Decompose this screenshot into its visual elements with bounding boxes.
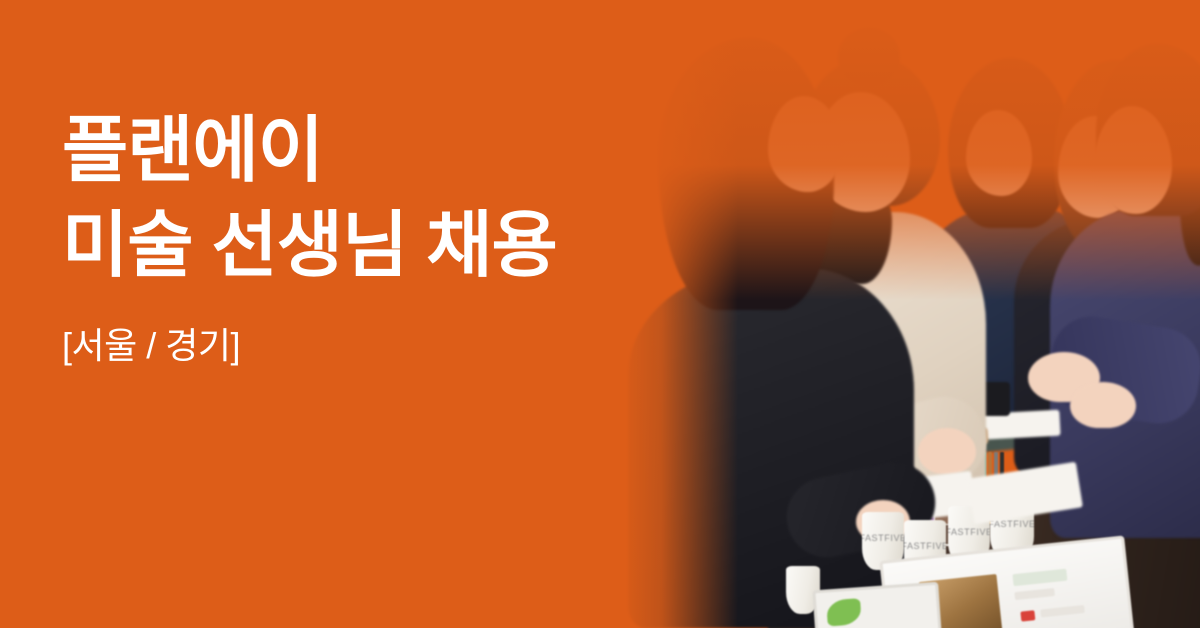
banner-text-block: 플랜에이 미술 선생님 채용 [서울 / 경기] xyxy=(62,104,557,367)
page-title: 플랜에이 미술 선생님 채용 xyxy=(62,104,557,294)
laptop-ui-block xyxy=(1040,605,1085,618)
person-right-ponytail-hand-2 xyxy=(1070,382,1136,428)
workshop-photo: FASTFIVE FASTFIVE FASTFIVE FASTFIVE xyxy=(618,0,1200,628)
tablet-leaf-graphic xyxy=(826,598,862,626)
laptop-ui-block xyxy=(1014,588,1055,600)
cup-brand-label: FASTFIVE xyxy=(948,527,990,537)
person-bun-sweater-bun xyxy=(838,28,900,86)
headline-line-1: 플랜에이 xyxy=(62,104,557,199)
cup-brand-label: FASTFIVE xyxy=(990,519,1034,529)
tablet-device xyxy=(812,582,941,628)
recruitment-banner: FASTFIVE FASTFIVE FASTFIVE FASTFIVE xyxy=(0,0,1200,628)
location-subtitle: [서울 / 경기] xyxy=(62,324,557,367)
cup-brand-label: FASTFIVE xyxy=(904,541,946,551)
laptop-ui-block xyxy=(1012,569,1067,587)
person-front-left-body xyxy=(628,268,914,628)
headline-line-2: 미술 선생님 채용 xyxy=(62,199,557,294)
photo-scene: FASTFIVE FASTFIVE FASTFIVE FASTFIVE xyxy=(618,0,1200,628)
laptop-ui-badge xyxy=(1020,610,1035,621)
cup-brand-label: FASTFIVE xyxy=(862,533,904,543)
person-bun-sweater-hand xyxy=(918,428,976,474)
